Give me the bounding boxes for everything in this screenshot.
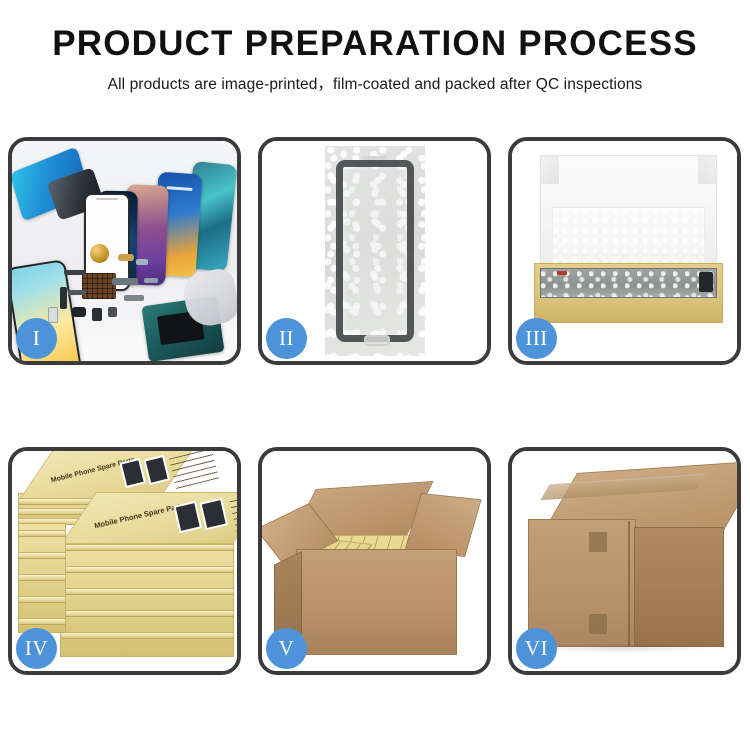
box-label-checklist — [169, 451, 220, 492]
spare-part — [144, 278, 158, 283]
carton-body — [296, 549, 457, 655]
red-label — [557, 271, 567, 275]
step-badge-2: II — [266, 318, 307, 359]
spare-part — [108, 307, 117, 317]
process-step-panel-4: Mobile Phone Spare Parts Mobile Phone Sp… — [8, 447, 241, 675]
retail-box — [18, 523, 66, 633]
spare-part — [64, 270, 86, 275]
spare-part — [118, 254, 134, 261]
box-edge — [19, 618, 65, 625]
home-button — [364, 335, 390, 346]
open-kraft-box — [534, 155, 723, 331]
screen-assembly — [336, 160, 414, 342]
box-edge — [61, 566, 233, 573]
retail-box: Mobile Phone Spare Parts — [60, 537, 234, 657]
process-step-panel-3: III — [508, 137, 741, 365]
step-badge-6: VI — [516, 628, 557, 669]
page-header: PRODUCT PREPARATION PROCESS All products… — [0, 0, 750, 94]
box-label-checklist — [230, 491, 237, 534]
spare-part — [92, 308, 102, 321]
step-badge-3: III — [516, 318, 557, 359]
box-edge — [19, 530, 65, 537]
box-label-photo — [143, 455, 170, 485]
box-edge — [61, 632, 233, 639]
step-badge-4: IV — [16, 628, 57, 669]
bubble-wrap-sheet — [325, 146, 425, 356]
spare-part — [112, 278, 138, 285]
spare-part — [136, 259, 148, 265]
process-step-panel-2: II — [258, 137, 491, 365]
earpiece-slot — [363, 156, 387, 160]
box-tray — [534, 263, 723, 323]
step-badge-1: I — [16, 318, 57, 359]
box-edge — [19, 552, 65, 559]
sealed-shipping-carton — [522, 473, 729, 653]
spare-part — [68, 290, 86, 295]
chip-grid-component — [82, 273, 116, 299]
process-step-panel-6: VI — [508, 447, 741, 675]
box-label-photo — [119, 458, 146, 488]
carton-notch — [589, 532, 607, 552]
gold-component — [90, 244, 109, 263]
carton-corner-seam — [628, 521, 630, 647]
box-edge — [19, 574, 65, 581]
spare-part — [60, 287, 67, 309]
carton-side-face — [634, 527, 724, 647]
box-label-photo — [173, 501, 202, 533]
box-edge — [61, 610, 233, 617]
box-edge — [19, 596, 65, 603]
spare-part — [72, 307, 86, 317]
page-subtitle: All products are image-printed，film-coat… — [0, 72, 750, 94]
process-step-grid: I II — [8, 137, 742, 675]
box-edge — [61, 544, 233, 551]
step-badge-5: V — [266, 628, 307, 669]
process-step-panel-5: V — [258, 447, 491, 675]
box-edge — [61, 588, 233, 595]
wrapped-screen-in-box — [540, 268, 717, 298]
box-label-product-name: Mobile Phone Spare Parts — [93, 501, 185, 531]
box-front-panel — [535, 298, 722, 322]
page-title: PRODUCT PREPARATION PROCESS — [0, 26, 750, 63]
spare-part — [124, 295, 144, 301]
box-label-photo — [199, 498, 228, 530]
process-step-panel-1: I — [8, 137, 241, 365]
carton-notch — [589, 614, 607, 634]
spare-part — [48, 307, 58, 323]
carton-front-face — [528, 519, 636, 647]
open-shipping-carton — [274, 479, 477, 655]
